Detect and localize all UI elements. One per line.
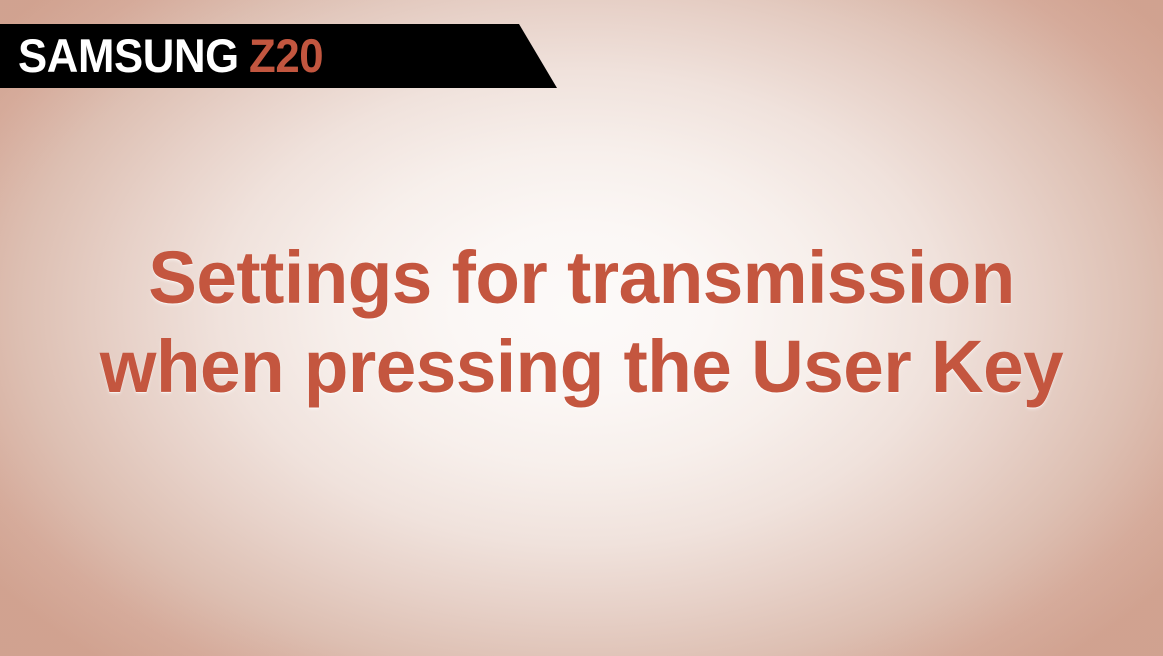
model-name: Z20 — [249, 29, 323, 82]
logo-banner: SAMSUNGZ20 — [0, 24, 560, 88]
title-line-1: Settings for transmission — [9, 233, 1155, 322]
title-slide: SAMSUNGZ20 Settings for transmission whe… — [0, 0, 1163, 656]
slide-title: Settings for transmission when pressing … — [0, 233, 1163, 411]
logo-text: SAMSUNGZ20 — [18, 32, 323, 79]
brand-name: SAMSUNG — [18, 29, 239, 82]
title-line-2: when pressing the User Key — [9, 322, 1155, 411]
